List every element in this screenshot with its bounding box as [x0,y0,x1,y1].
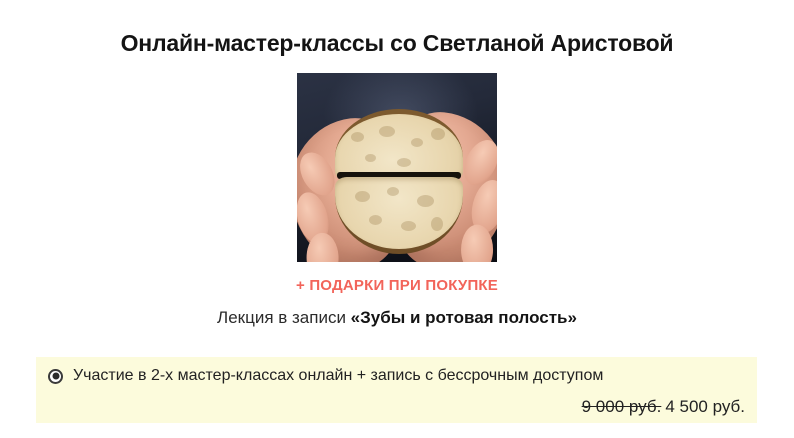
price-old: 9 000 руб. [582,397,662,416]
offer-description: Участие в 2-х мастер-классах онлайн + за… [73,365,603,387]
crumb-hole [369,215,382,225]
price-new: 4 500 руб. [665,397,745,416]
page-title: Онлайн-мастер-классы со Светланой Аристо… [0,28,794,58]
crumb-hole [401,221,416,231]
crumb-hole [417,195,434,207]
crumb-hole [397,158,411,167]
crumb-hole [379,126,395,137]
crumb-hole [431,128,445,140]
crumb-hole [365,154,376,162]
offer-option-row[interactable]: Участие в 2-х мастер-классах онлайн + за… [48,365,603,387]
crumb-hole [351,132,364,142]
offer-price: 9 000 руб.4 500 руб. [582,395,745,418]
bread-in-hands-photo [297,73,497,262]
promo-page: Онлайн-мастер-классы со Светланой Аристо… [0,0,794,438]
radio-selected-icon[interactable] [48,369,63,384]
crumb-hole [431,217,443,231]
crumb-hole [355,191,370,202]
gift-promo-label: + ПОДАРКИ ПРИ ПОКУПКЕ [0,276,794,296]
lecture-line: Лекция в записи «Зубы и ротовая полость» [0,306,794,329]
course-photo [297,73,497,262]
lecture-prefix: Лекция в записи [217,308,351,327]
crumb-hole [387,187,399,196]
offer-box: Участие в 2-х мастер-классах онлайн + за… [36,357,757,423]
crumb-hole [411,138,423,147]
lecture-title: «Зубы и ротовая полость» [351,308,577,327]
